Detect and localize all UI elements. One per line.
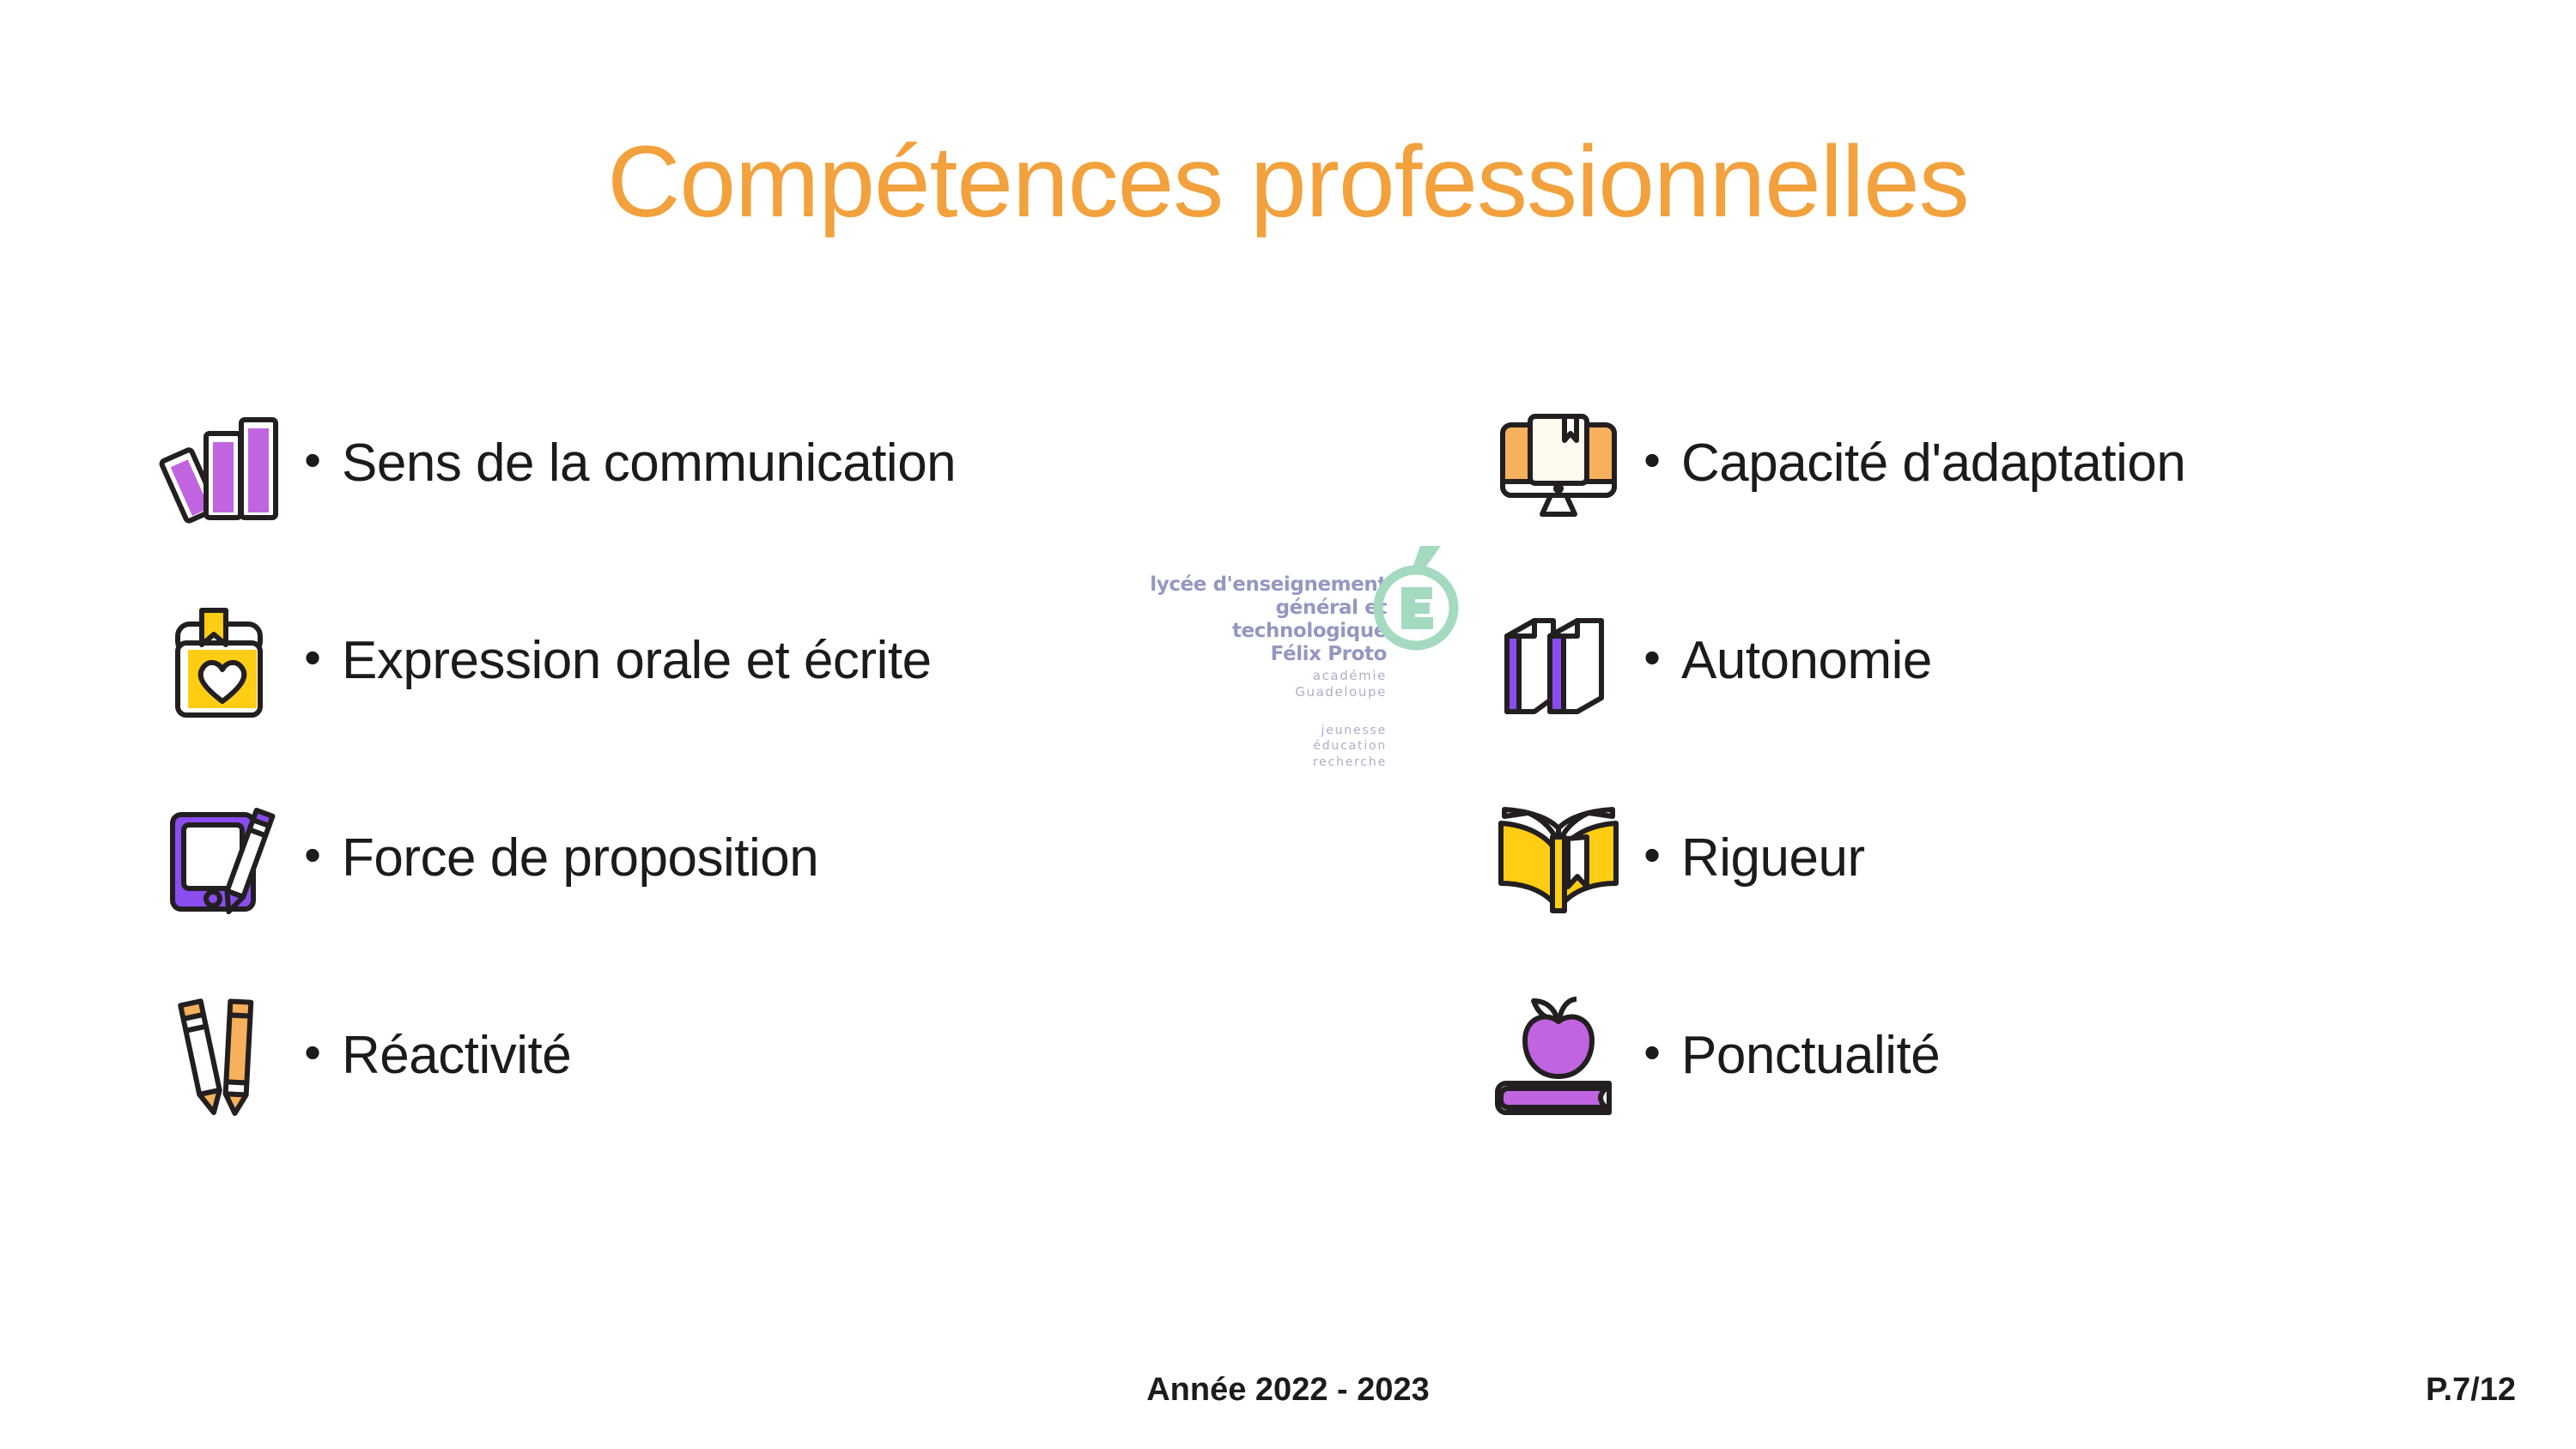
bullet-glyph: •	[283, 831, 342, 886]
list-item-label: Sens de la communication	[342, 435, 956, 491]
list-item[interactable]: • Force de proposition	[155, 773, 1357, 944]
list-item[interactable]: • Réactivité	[155, 970, 1357, 1142]
bullet-glyph: •	[283, 1028, 342, 1083]
list-item[interactable]: • Ponctualité	[1494, 970, 2576, 1142]
competencies-column-right: • Capacité d'adaptation	[1494, 378, 2576, 1167]
two-pencils-icon	[155, 987, 283, 1125]
bullet-glyph: •	[1623, 831, 1681, 886]
list-item-label: Capacité d'adaptation	[1681, 435, 2185, 491]
list-item-label: Expression orale et écrite	[342, 633, 932, 688]
bullet-glyph: •	[1623, 1028, 1681, 1083]
competencies-columns: • Sens de la communication •	[0, 378, 2576, 1167]
bullet-glyph: •	[1623, 634, 1681, 688]
books-on-shelf-icon	[155, 395, 283, 532]
bullet-glyph: •	[1623, 436, 1681, 491]
list-item[interactable]: • Rigueur	[1494, 773, 2576, 944]
open-book-icon	[1494, 790, 1623, 927]
list-item-label: Réactivité	[342, 1028, 571, 1083]
bullet-glyph: •	[283, 634, 342, 688]
competencies-column-left: • Sens de la communication •	[155, 378, 1357, 1167]
list-item-label: Autonomie	[1681, 633, 1932, 688]
footer-year: Année 2022 - 2023	[0, 1372, 2576, 1409]
tablet-with-pencil-icon	[155, 790, 283, 927]
list-item[interactable]: • Expression orale et écrite	[155, 575, 1357, 747]
list-item[interactable]: • Sens de la communication	[155, 378, 1357, 549]
footer-page-number: P.7/12	[2426, 1372, 2516, 1409]
monitor-with-book-icon	[1494, 395, 1623, 532]
list-item-label: Rigueur	[1681, 830, 1865, 886]
two-standing-books-icon	[1494, 592, 1623, 730]
list-item[interactable]: • Capacité d'adaptation	[1494, 378, 2576, 549]
list-item[interactable]: • Autonomie	[1494, 575, 2576, 747]
page-title: Compétences professionnelles	[0, 127, 2576, 239]
list-item-label: Ponctualité	[1681, 1028, 1940, 1083]
slide-root: Compétences professionnelles lycée d'ens…	[0, 0, 2576, 1449]
apple-on-book-icon	[1494, 987, 1623, 1125]
book-with-heart-icon	[155, 592, 283, 730]
bullet-glyph: •	[283, 436, 342, 491]
list-item-label: Force de proposition	[342, 830, 818, 886]
